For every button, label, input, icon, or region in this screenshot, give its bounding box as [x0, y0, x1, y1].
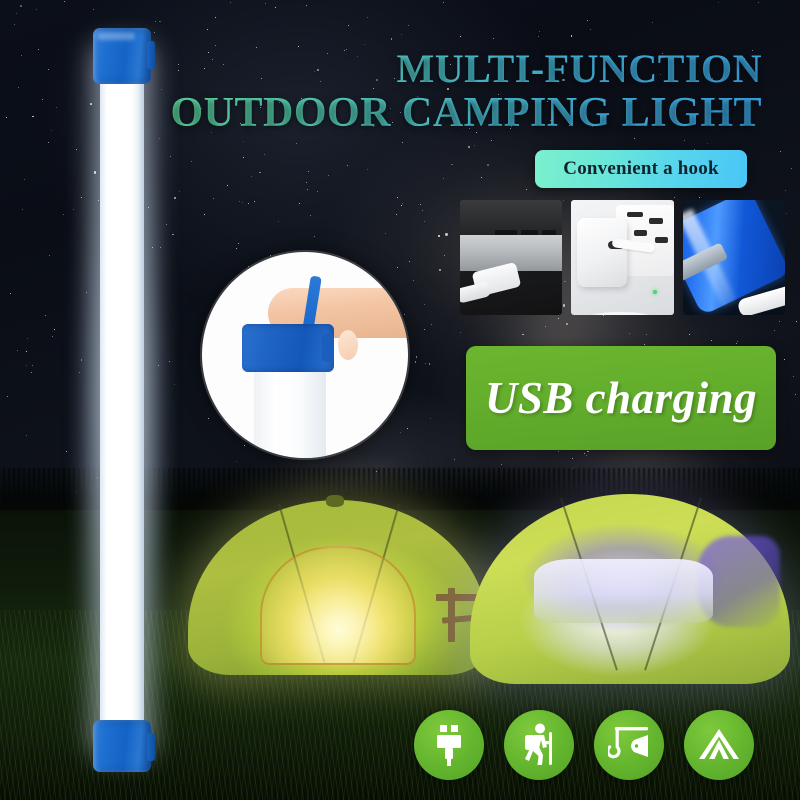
usb-charging-label: USB charging — [485, 372, 757, 424]
tent-right-window — [534, 559, 713, 624]
feature-fishing — [594, 710, 664, 780]
charging-photo-strip — [460, 200, 785, 315]
closeup-cap-nub — [322, 334, 334, 362]
product-advertisement-banner: MULTI-FUNCTION OUTDOOR CAMPING LIGHT Con… — [0, 0, 800, 800]
feature-camping — [684, 710, 754, 780]
feature-hiking — [504, 710, 574, 780]
usb-charging-banner: USB charging — [466, 346, 776, 450]
convenient-hook-badge: Convenient a hook — [535, 150, 747, 188]
headline-line-1: MULTI-FUNCTION — [170, 48, 762, 90]
hook-badge-label: Convenient a hook — [563, 158, 718, 180]
hiker-icon — [520, 723, 558, 767]
feature-usb — [414, 710, 484, 780]
tent-left-door — [260, 546, 416, 665]
closeup-blue-cap — [242, 324, 334, 372]
light-tube-body — [100, 52, 144, 748]
laptop-usb-port-photo — [460, 200, 562, 315]
closeup-fingernail — [338, 330, 358, 360]
tent-left-apex — [326, 495, 344, 507]
tent-icon — [697, 728, 741, 762]
headline-line-2: OUTDOOR CAMPING LIGHT — [170, 92, 762, 136]
led-light-bar-product — [93, 28, 151, 772]
feature-icon-row — [414, 710, 786, 782]
light-bottom-cap — [93, 720, 151, 772]
power-adapter-photo — [571, 200, 673, 315]
headline-block: MULTI-FUNCTION OUTDOOR CAMPING LIGHT — [170, 48, 762, 135]
fishing-icon — [608, 725, 650, 765]
hook-closeup-circle — [202, 252, 408, 458]
usb-plug-icon — [431, 724, 467, 766]
light-top-cap — [93, 28, 151, 84]
phone-charging-photo — [683, 200, 785, 315]
tent-right — [470, 494, 790, 684]
